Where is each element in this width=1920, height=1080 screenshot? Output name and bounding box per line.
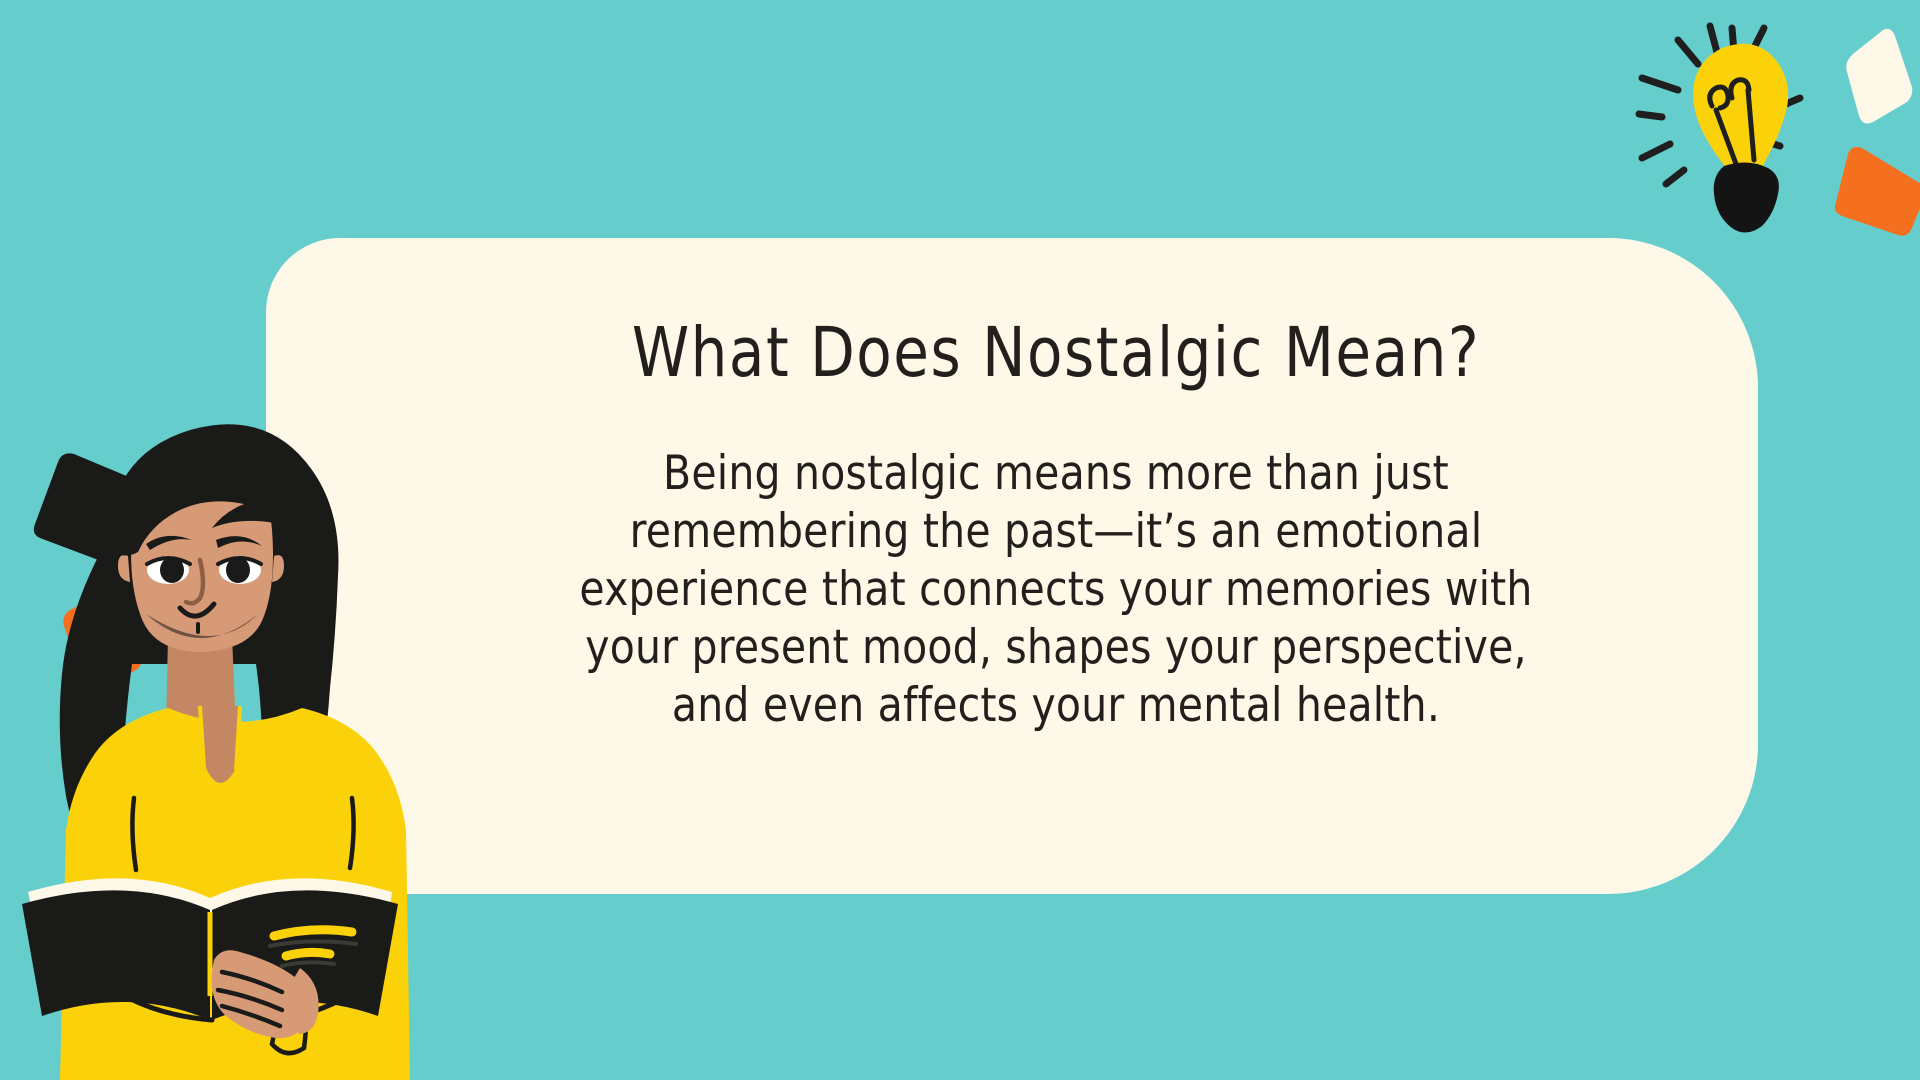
body-paragraph: Being nostalgic means more than just rem… — [466, 444, 1646, 734]
woman-reading-book-illustration — [0, 400, 470, 1080]
book-cover-left-icon — [22, 890, 210, 1020]
lightbulb-base-icon — [1714, 162, 1779, 232]
slide-canvas: What Does Nostalgic Mean? Being nostalgi… — [0, 0, 1920, 1080]
body-line-1: Being nostalgic means more than just — [466, 444, 1646, 502]
card-text-block: What Does Nostalgic Mean? Being nostalgi… — [466, 316, 1646, 694]
lightbulb-idea-icon — [1632, 18, 1892, 268]
body-line-2: remembering the past—it’s an emotional — [466, 502, 1646, 560]
lightbulb-glass-icon — [1693, 44, 1788, 178]
content-card: What Does Nostalgic Mean? Being nostalgi… — [266, 238, 1758, 894]
body-line-5: and even affects your mental health. — [466, 676, 1646, 734]
body-line-4: your present mood, shapes your perspecti… — [466, 618, 1646, 676]
body-line-3: experience that connects your memories w… — [466, 560, 1646, 618]
page-title: What Does Nostalgic Mean? — [466, 316, 1646, 391]
